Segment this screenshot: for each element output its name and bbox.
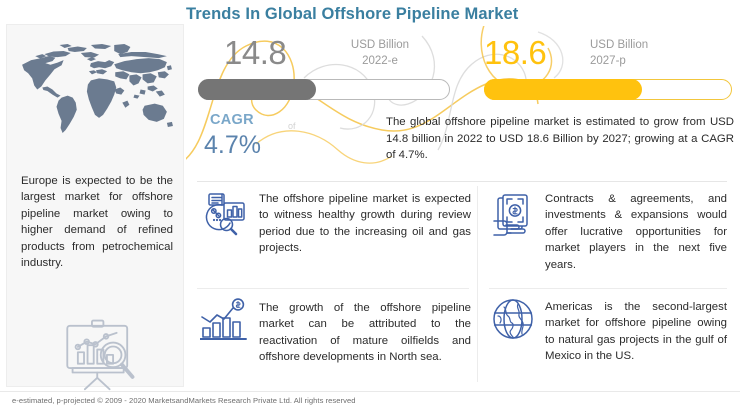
bar-chart-growth-dollar-icon bbox=[200, 298, 248, 344]
divider-right-middle bbox=[489, 288, 727, 289]
stat-current-unit: USD Billion bbox=[332, 37, 428, 53]
stat-current-period: 2022-e bbox=[332, 53, 428, 69]
stat-forecast-period: 2027-p bbox=[590, 53, 648, 69]
stat-current: 14.8 USD Billion 2022-e bbox=[192, 32, 464, 112]
contract-money-hand-icon bbox=[492, 194, 536, 238]
cagr-value: 4.7% bbox=[204, 130, 261, 160]
stat-forecast: 18.6 USD Billion 2027-p bbox=[468, 32, 734, 112]
chart-presentation-magnifier-icon bbox=[53, 317, 145, 391]
cagr-label: CAGR bbox=[210, 112, 254, 128]
sidebar-note: Europe is expected to be the largest mar… bbox=[21, 173, 173, 271]
cagr-block: CAGR of 4.7% bbox=[196, 112, 382, 166]
market-summary-text: The global offshore pipeline market is e… bbox=[386, 114, 734, 164]
cagr-of-label: of bbox=[288, 121, 296, 131]
divider-top bbox=[197, 181, 727, 182]
stat-forecast-bar-fill bbox=[484, 79, 642, 100]
stat-forecast-value: 18.6 bbox=[484, 34, 546, 72]
stat-current-bar-fill bbox=[198, 79, 316, 100]
market-analysis-percent-icon bbox=[200, 192, 248, 240]
insight-card-text: Americas is the second-largest market fo… bbox=[545, 299, 727, 365]
insight-card-text: Contracts & agreements, and investments … bbox=[545, 191, 727, 273]
stat-forecast-unit: USD Billion bbox=[590, 37, 648, 53]
insight-card: The offshore pipeline market is expected… bbox=[197, 188, 475, 284]
divider-vertical bbox=[477, 186, 478, 382]
page-title: Trends In Global Offshore Pipeline Marke… bbox=[186, 5, 518, 24]
insight-card-text: The offshore pipeline market is expected… bbox=[259, 191, 471, 257]
world-map-icon bbox=[15, 39, 177, 139]
divider-left-middle bbox=[197, 288, 469, 289]
stat-current-label: USD Billion 2022-e bbox=[332, 37, 428, 69]
stat-forecast-label: USD Billion 2027-p bbox=[590, 37, 648, 69]
stat-current-bar-track bbox=[198, 79, 450, 100]
globe-icon bbox=[492, 298, 536, 342]
footer-text: e-estimated, p-projected © 2009 - 2020 M… bbox=[12, 396, 356, 405]
stat-forecast-bar-track bbox=[484, 79, 732, 100]
stat-current-value: 14.8 bbox=[224, 34, 286, 72]
insight-card-text: The growth of the offshore pipeline mark… bbox=[259, 300, 471, 366]
insight-card: Contracts & agreements, and investments … bbox=[489, 188, 729, 284]
insight-card: The growth of the offshore pipeline mark… bbox=[197, 296, 475, 382]
sidebar-panel: Europe is expected to be the largest mar… bbox=[6, 24, 184, 387]
footer-divider bbox=[0, 391, 740, 392]
insight-card: Americas is the second-largest market fo… bbox=[489, 296, 729, 382]
infographic-page: Trends In Global Offshore Pipeline Marke… bbox=[0, 0, 740, 417]
